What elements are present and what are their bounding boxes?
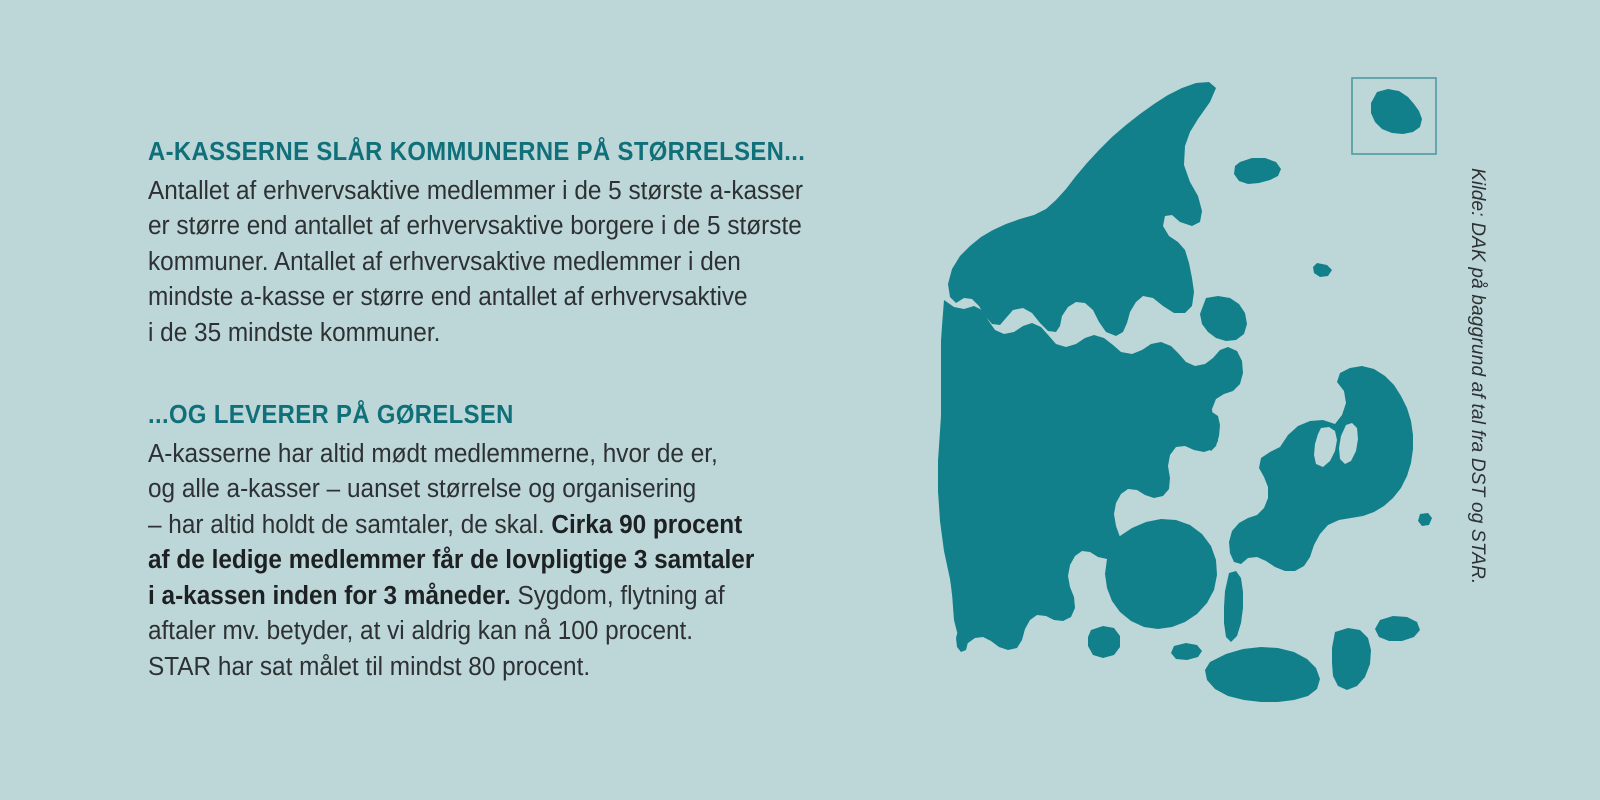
emphasis-run: i a-kassen inden for 3 måneder.: [148, 582, 511, 610]
moen-island: [1375, 616, 1420, 641]
body-line: i de 35 mindste kommuner.: [148, 316, 874, 352]
body-line: er større end antallet af erhvervsaktive…: [148, 209, 874, 245]
laesoe-island: [1234, 158, 1281, 184]
bornholm-island: [1371, 89, 1422, 134]
section-body-size: Antallet af erhvervsaktive medlemmer i d…: [148, 174, 874, 352]
body-line: og alle a-kasser – uanset størrelse og o…: [148, 472, 874, 508]
bornholm-inset: [1352, 78, 1436, 154]
falster-island: [1332, 628, 1371, 690]
als-island: [1088, 626, 1120, 658]
langeland-island: [1224, 571, 1243, 642]
section-size: A-KASSERNE SLÅR KOMMUNERNE PÅ STØRRELSEN…: [148, 138, 908, 351]
djursland-shape: [1200, 296, 1247, 341]
denmark-map: [880, 70, 1480, 720]
body-line: mindste a-kasse er større end antallet a…: [148, 280, 874, 316]
map-landmass-group: [938, 82, 1432, 702]
body-line: aftaler mv. betyder, at vi aldrig kan nå…: [148, 614, 874, 650]
infographic-canvas: A-KASSERNE SLÅR KOMMUNERNE PÅ STØRRELSEN…: [0, 0, 1600, 800]
source-credit: Kilde: DAK på baggrund af tal fra DST og…: [1466, 168, 1488, 585]
zealand-island: [1229, 366, 1413, 571]
section-heading-size: A-KASSERNE SLÅR KOMMUNERNE PÅ STØRRELSEN…: [148, 138, 859, 167]
body-line: A-kasserne har altid mødt medlemmerne, h…: [148, 437, 874, 473]
aeroe-island: [1171, 643, 1202, 660]
text-column: A-KASSERNE SLÅR KOMMUNERNE PÅ STØRRELSEN…: [148, 138, 908, 685]
section-body-delivery: A-kasserne har altid mødt medlemmerne, h…: [148, 437, 874, 686]
funen-island: [1105, 519, 1217, 629]
body-line: Antallet af erhvervsaktive medlemmer i d…: [148, 174, 874, 210]
emphasis-run: Cirka 90 procent: [551, 511, 742, 539]
body-text-run: Sygdom, flytning af: [511, 582, 725, 610]
lolland-island: [1205, 647, 1320, 702]
emphasis-run: af de ledige medlemmer får de lovpligtig…: [148, 543, 874, 579]
body-line: i a-kassen inden for 3 måneder. Sygdom, …: [148, 579, 874, 615]
small-islet: [1418, 513, 1432, 526]
body-line: kommuner. Antallet af erhvervsaktive med…: [148, 245, 874, 281]
anholt-island: [1313, 263, 1332, 277]
section-delivery: ...OG LEVERER PÅ GØRELSEN A-kasserne har…: [148, 401, 908, 685]
body-line: STAR har sat målet til mindst 80 procent…: [148, 650, 874, 686]
body-text-run: – har altid holdt de samtaler, de skal.: [148, 511, 551, 539]
body-line: – har altid holdt de samtaler, de skal. …: [148, 508, 874, 544]
section-heading-delivery: ...OG LEVERER PÅ GØRELSEN: [148, 401, 859, 430]
